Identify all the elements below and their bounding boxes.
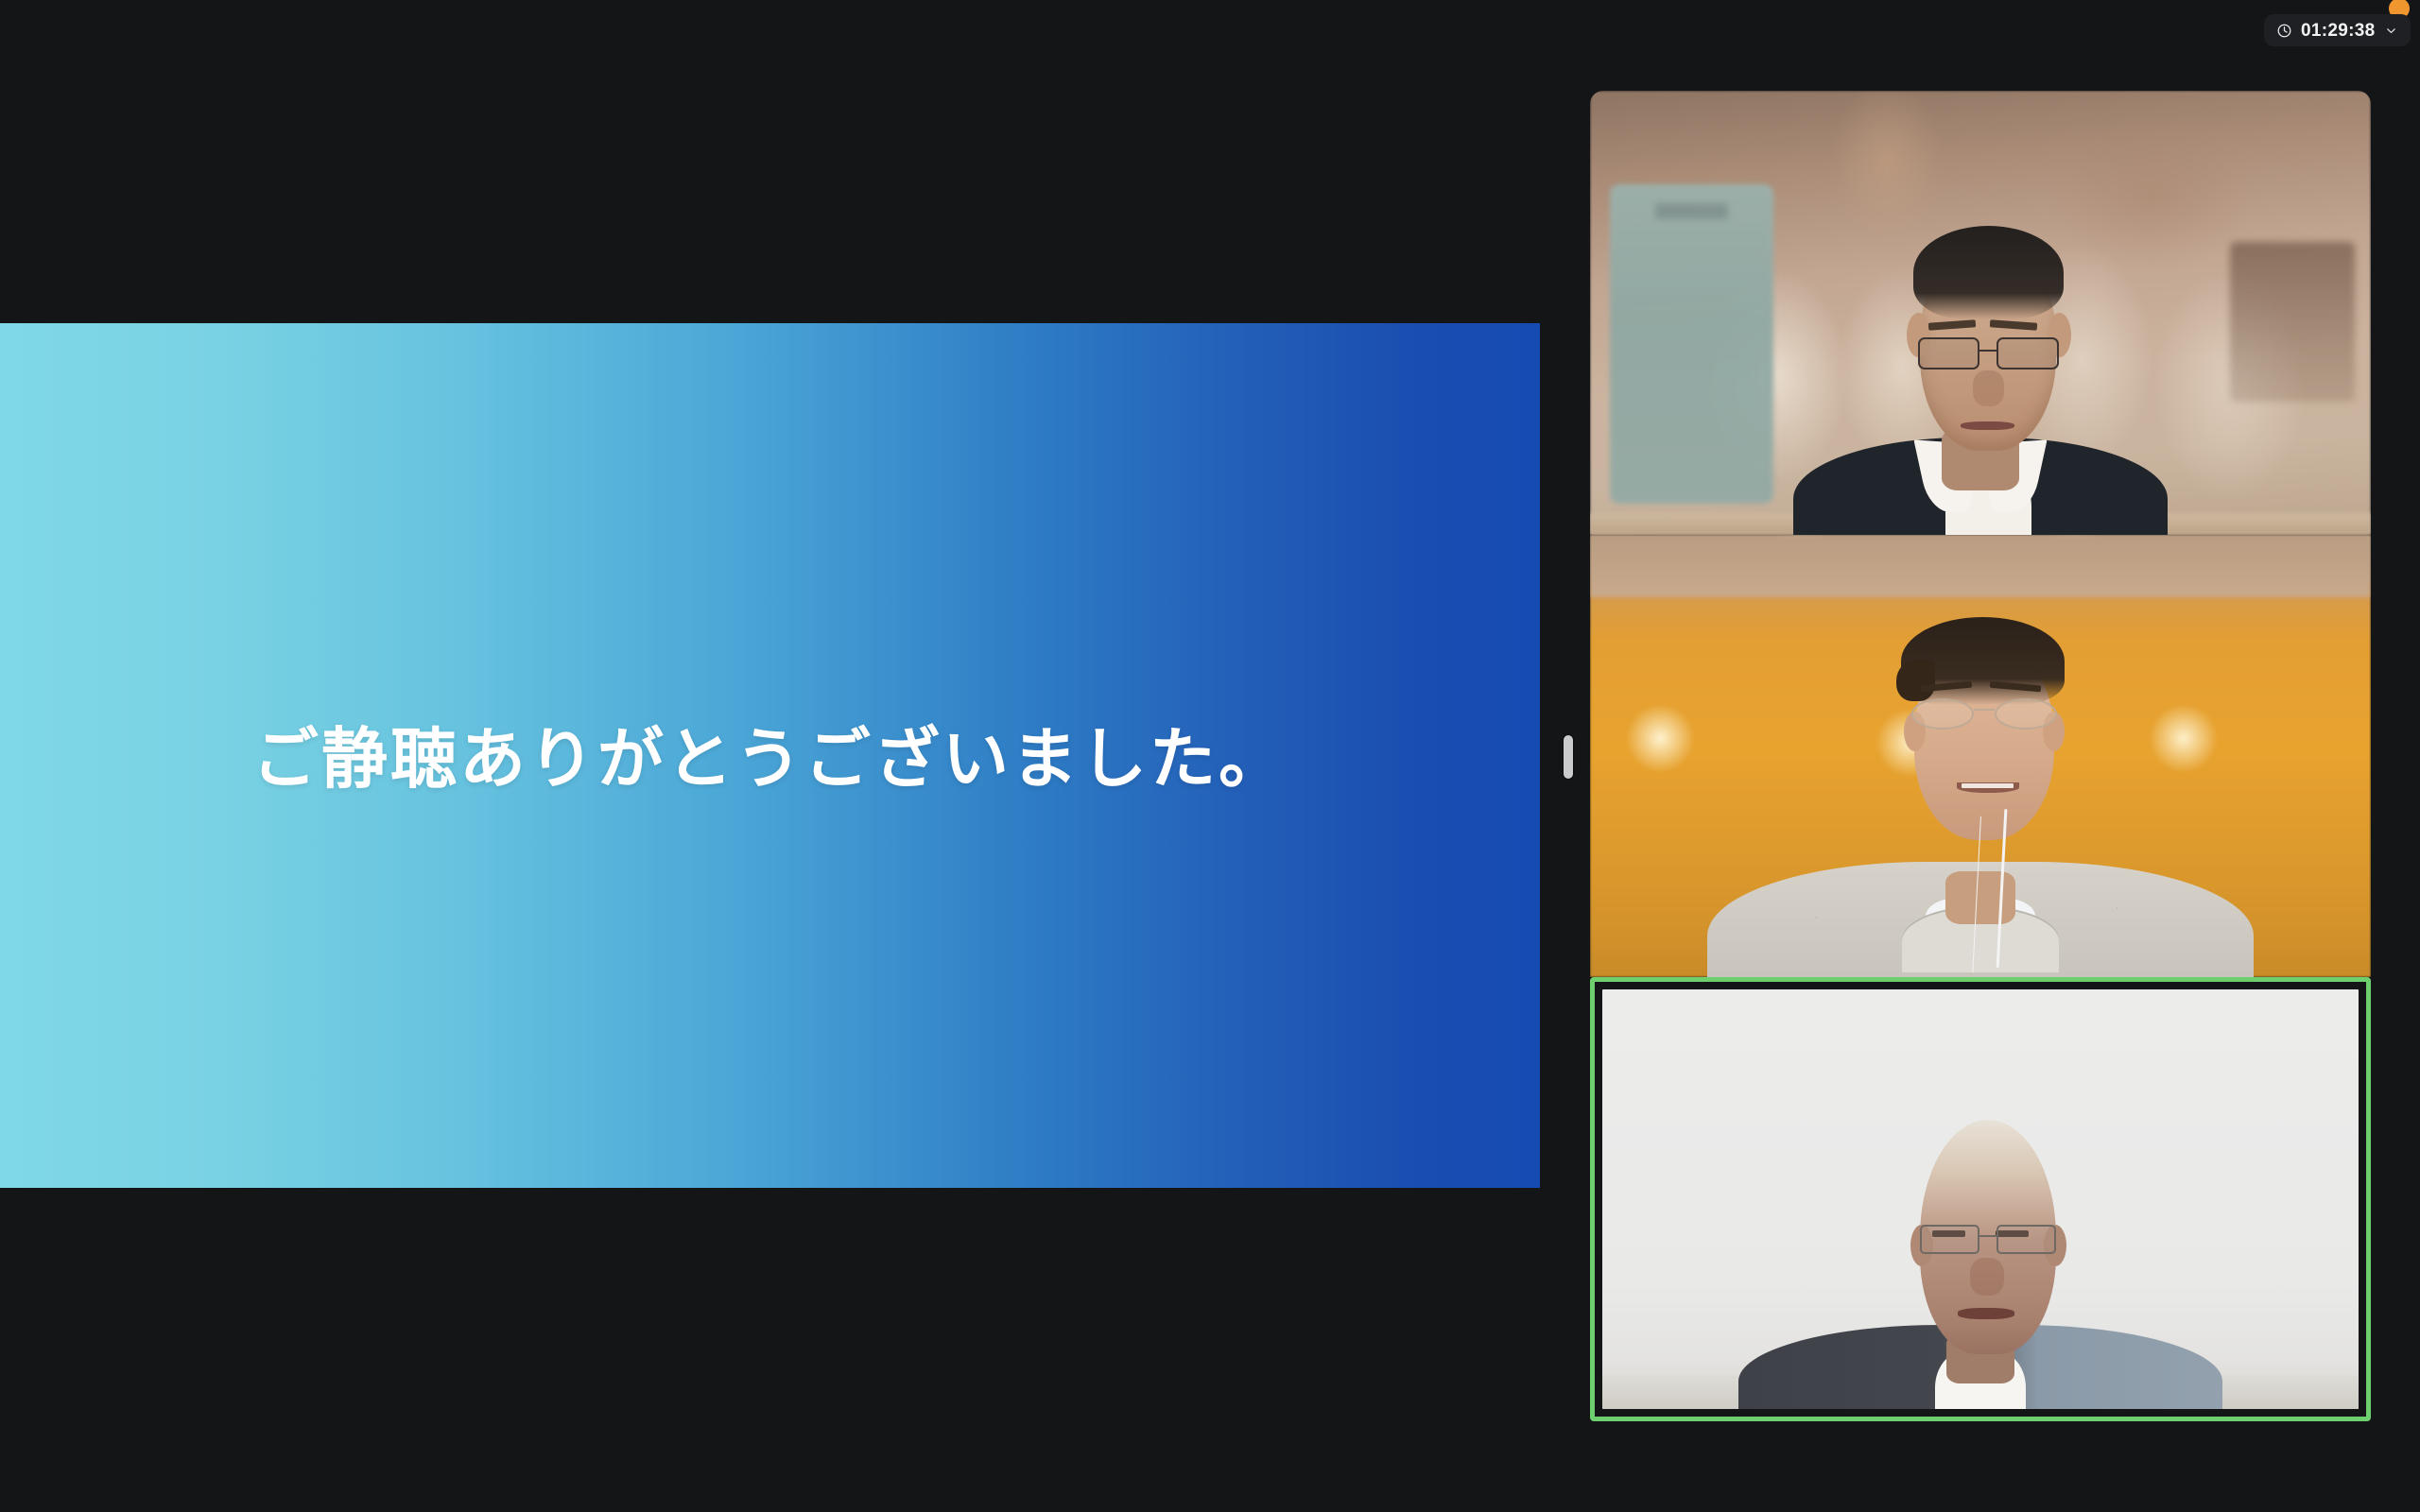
chevron-down-icon[interactable] [2385,25,2397,37]
feed-1-person-nose [1973,370,2004,406]
feed-1-wall-panel [1610,184,1773,504]
participant-tile-1[interactable] [1590,91,2371,535]
meeting-timer-value: 01:29:38 [2301,22,2375,40]
feed-1-person-hair [1913,226,2064,319]
video-feed-3 [1602,989,2359,1409]
feed-2-person-teeth [1962,783,2014,788]
video-feed-2 [1590,535,2371,977]
slide-text: ご静聴ありがとうございました。 [0,323,1540,1188]
participant-tile-3[interactable] [1590,977,2371,1421]
feed-2-person-hair [1901,617,2065,706]
top-bar: 01:29:38 [0,0,2420,57]
feed-2-person-glasses [1911,698,2057,730]
shared-screen-slide[interactable]: ご静聴ありがとうございました。 [0,323,1540,1188]
participant-filmstrip [1590,91,2371,1421]
feed-3-person-nose [1970,1258,2004,1296]
feed-1-shelf [2230,242,2355,402]
meeting-timer-pill[interactable]: 01:29:38 [2264,14,2411,46]
feed-1-person-glasses [1918,337,2059,369]
participant-tile-2[interactable] [1590,535,2371,977]
feed-1-person-mouth [1961,421,2015,430]
video-feed-1 [1590,91,2371,535]
feed-3-person-mouth [1958,1308,2014,1319]
feed-3-person-glasses [1920,1225,2056,1254]
split-drag-handle[interactable] [1564,735,1573,779]
video-call-screen: 01:29:38 ご静聴ありがとうございました。 [0,0,2420,1512]
clock-icon [2276,23,2292,39]
feed-2-person-neck [1945,871,2015,924]
